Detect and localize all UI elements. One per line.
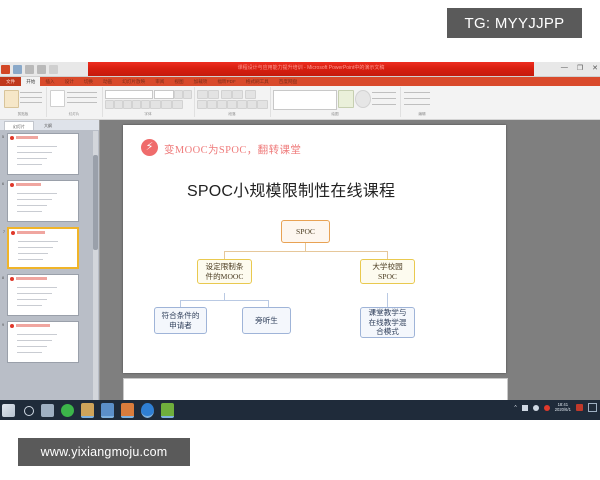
slide-thumbnail-number: 9 [2, 323, 4, 327]
connector-l3a-up [180, 300, 181, 307]
thumbnail-content-line [18, 247, 53, 248]
customize-icon[interactable] [49, 65, 58, 74]
ribbon-tab-0[interactable]: 文件 [0, 77, 21, 86]
slide-thumbnail-number: 5 [2, 135, 4, 139]
ribbon-group-clipboard: 剪贴板 [0, 87, 47, 117]
ribbon-tab-row: 文件开始插入设计切换动画幻灯片放映审阅视图加载项福昕PDF格式刷工具百度网盘 [0, 77, 600, 86]
app-explorer-icon[interactable] [101, 403, 114, 418]
text-direction-button[interactable] [247, 100, 257, 109]
save-icon[interactable] [13, 65, 22, 74]
paste-button[interactable] [4, 90, 19, 108]
windows-taskbar: ^ 18:41 2020/6/1 [0, 400, 600, 420]
connector-l2a-up [224, 251, 225, 259]
desktop-screenshot: 课程设计与应用能力提升培训 - Microsoft PowerPoint中的演示… [0, 62, 600, 420]
thumbnail-content-line [17, 352, 42, 353]
ribbon-tab-2[interactable]: 插入 [40, 77, 59, 86]
align-left-button[interactable] [197, 100, 207, 109]
watermark-badge: www.yixiangmoju.com [18, 438, 190, 466]
connector-l3b-up [268, 300, 269, 307]
work-area: 幻灯片 大纲 56789 ⚡ 变MOOC为SPOC，翻转课堂 SPOC小规模限制… [0, 120, 600, 408]
restore-button[interactable]: ❐ [577, 64, 583, 72]
diagram-node-l3a[interactable]: 符合条件的 申请者 [154, 307, 207, 334]
window-titlebar: 课程设计与应用能力提升培训 - Microsoft PowerPoint中的演示… [0, 62, 600, 77]
thumbnail-title-bar [16, 136, 38, 139]
ribbon-tab-12[interactable]: 百度网盘 [274, 77, 302, 86]
slide-pane-scrollbar[interactable] [93, 131, 98, 407]
slide-thumbnail[interactable]: 5 [7, 133, 79, 175]
slide-thumbnail[interactable]: 7 [7, 227, 79, 269]
volume-icon[interactable] [533, 405, 539, 411]
ribbon-tab-11[interactable]: 格式刷工具 [241, 77, 274, 86]
system-tray[interactable]: ^ 18:41 2020/6/1 [514, 403, 597, 412]
tg-badge: TG: MYYJJPP [447, 8, 582, 38]
character-spacing-button[interactable] [150, 100, 161, 109]
start-icon[interactable] [2, 404, 15, 417]
slide-title: SPOC小规模限制性在线课程 [187, 177, 395, 201]
node-label-line1: 大学校园 [372, 262, 402, 271]
arrange-button[interactable] [338, 90, 354, 108]
undo-icon[interactable] [25, 65, 34, 74]
connector-level2-bus [224, 251, 387, 252]
thumbnail-bolt-icon [10, 136, 14, 140]
slide-thumbnail[interactable]: 9 [7, 321, 79, 363]
app-powerpoint-icon[interactable] [121, 403, 134, 418]
thumbnail-content-line [17, 152, 52, 153]
slide-thumbnail-number: 8 [2, 276, 4, 280]
node-label-line1: 设定限制条 [206, 262, 244, 271]
font-color-button[interactable] [172, 100, 183, 109]
italic-button[interactable] [114, 100, 123, 109]
ribbon-group-slides: 幻灯片 [46, 87, 103, 117]
thumbnail-title-bar [16, 324, 50, 327]
shield-icon[interactable] [576, 404, 583, 411]
shadow-button[interactable] [132, 100, 141, 109]
diagram-node-l3c[interactable]: 课堂教学与 在线教学混 合模式 [360, 307, 415, 338]
slide-thumbnail-number: 7 [3, 230, 5, 234]
thumbnail-content-line [17, 211, 42, 212]
quick-access-toolbar[interactable] [1, 63, 58, 75]
align-center-button[interactable] [207, 100, 217, 109]
shapes-gallery[interactable] [273, 90, 337, 110]
quick-styles-button[interactable] [355, 90, 371, 108]
thumbnail-content-line [17, 199, 52, 200]
thumbnail-content-line [17, 205, 47, 206]
bullets-button[interactable] [197, 90, 208, 99]
ribbon-group-font: 字体 [102, 87, 195, 117]
app-green-icon[interactable] [61, 404, 74, 417]
node-label: SPOC [296, 227, 315, 236]
bold-button[interactable] [105, 100, 114, 109]
connector-l2a-down [224, 293, 225, 300]
underline-button[interactable] [123, 100, 132, 109]
thumbnail-bolt-icon [10, 183, 14, 187]
taskbar-clock[interactable]: 18:41 2020/6/1 [555, 403, 571, 412]
current-slide[interactable]: ⚡ 变MOOC为SPOC，翻转课堂 SPOC小规模限制性在线课程 [123, 125, 506, 373]
slide-stage: ⚡ 变MOOC为SPOC，翻转课堂 SPOC小规模限制性在线课程 [100, 120, 600, 408]
convert-smartart-button[interactable] [257, 100, 268, 109]
minimize-button[interactable]: — [561, 64, 568, 72]
increase-indent-button[interactable] [232, 90, 243, 99]
app-folder-icon[interactable] [81, 403, 94, 418]
thumbnail-bolt-icon [11, 231, 15, 235]
app-excel-icon[interactable] [161, 403, 174, 418]
redo-icon[interactable] [37, 65, 46, 74]
justify-button[interactable] [227, 100, 237, 109]
ribbon-body: 剪贴板 幻灯片 [0, 86, 600, 120]
diagram-node-l2a[interactable]: 设定限制条 件的MOOC [197, 259, 252, 284]
thumbnail-title-bar [16, 183, 41, 186]
thumbnail-content-line [18, 259, 43, 260]
window-title-fill: 课程设计与应用能力提升培训 - Microsoft PowerPoint中的演示… [88, 62, 534, 76]
thumbnail-bolt-icon [10, 277, 14, 281]
thumbnail-content-line [17, 293, 52, 294]
thumbnail-content-line [17, 146, 57, 147]
font-name-input[interactable] [105, 90, 153, 99]
window-title: 课程设计与应用能力提升培训 - Microsoft PowerPoint中的演示… [88, 64, 534, 71]
thumbnail-content-line [17, 305, 42, 306]
thumbnail-content-line [17, 158, 47, 159]
connector-l3-bus-left [180, 300, 268, 301]
thumbnail-content-line [17, 334, 57, 335]
columns-button[interactable] [237, 100, 247, 109]
ribbon-group-editing: 编辑 [400, 87, 444, 117]
ribbon-group-label: 编辑 [400, 112, 444, 117]
ribbon-group-label: 字体 [102, 112, 194, 117]
numbering-button[interactable] [208, 90, 219, 99]
thumbnail-content-line [17, 287, 57, 288]
thumbnail-content-line [18, 253, 48, 254]
new-slide-button[interactable] [50, 90, 65, 107]
ribbon-group-label: 剪贴板 [0, 112, 46, 117]
ribbon-group-drawing: 绘图 [270, 87, 401, 117]
slide-thumbnail-number: 6 [2, 182, 4, 186]
window-controls[interactable]: — ❐ ✕ [561, 64, 598, 72]
diagram-node-l2b[interactable]: 大学校园 SPOC [360, 259, 415, 284]
thumbnail-bolt-icon [10, 324, 14, 328]
node-label-line2: 件的MOOC [206, 272, 244, 281]
ribbon-tab-8[interactable]: 视图 [169, 77, 188, 86]
ribbon-group-label: 绘图 [270, 112, 400, 117]
taskbar-icons[interactable] [2, 403, 174, 418]
ribbon-tabs[interactable]: 文件开始插入设计切换动画幻灯片放映审阅视图加载项福昕PDF格式刷工具百度网盘 [0, 77, 302, 86]
search-icon[interactable] [24, 406, 34, 416]
node-label-line3: 合模式 [376, 327, 399, 336]
connector-root-down [305, 243, 306, 251]
node-label-line2: 申请者 [169, 321, 192, 330]
slide-thumbnail-list[interactable]: 56789 [0, 130, 99, 408]
ribbon-tab-3[interactable]: 设计 [60, 77, 79, 86]
bolt-icon: ⚡ [141, 139, 158, 156]
thumbnail-content-line [17, 340, 52, 341]
slide-thumbnail[interactable]: 8 [7, 274, 79, 316]
tab-outline[interactable]: 大纲 [36, 121, 60, 130]
network-icon[interactable] [522, 405, 528, 411]
ribbon-tab-5[interactable]: 动画 [98, 77, 117, 86]
thumbnail-content-line [18, 241, 58, 242]
thumbnail-content-line [17, 164, 42, 165]
node-label-line1: 符合条件的 [162, 311, 200, 320]
thumbnail-content-line [17, 346, 47, 347]
tray-expand-icon[interactable]: ^ [514, 405, 516, 411]
decrease-indent-button[interactable] [221, 90, 232, 99]
ribbon-group-label: 段落 [194, 112, 270, 117]
screenshot-root: 课程设计与应用能力提升培训 - Microsoft PowerPoint中的演示… [0, 0, 600, 480]
thumbnail-content-line [17, 299, 47, 300]
change-case-button[interactable] [161, 100, 172, 109]
slide-eyebrow: 变MOOC为SPOC，翻转课堂 [164, 142, 301, 157]
task-view-icon[interactable] [41, 404, 54, 417]
connector-l2b-up [387, 251, 388, 259]
ribbon-tab-7[interactable]: 审阅 [150, 77, 169, 86]
file-icon[interactable] [1, 65, 10, 74]
align-right-button[interactable] [217, 100, 227, 109]
ribbon-group-label: 幻灯片 [46, 112, 102, 117]
shrink-font-button[interactable] [183, 90, 192, 99]
ribbon-tab-4[interactable]: 切换 [79, 77, 98, 86]
connector-l3c-up [387, 293, 388, 307]
line-spacing-button[interactable] [245, 90, 256, 99]
slide-thumbnail[interactable]: 6 [7, 180, 79, 222]
slide-pane: 幻灯片 大纲 56789 [0, 120, 100, 408]
action-center-icon[interactable] [588, 403, 597, 412]
node-label-line2: SPOC [378, 272, 397, 281]
font-size-input[interactable] [154, 90, 174, 99]
close-button[interactable]: ✕ [592, 64, 598, 72]
notes-pane[interactable] [123, 378, 508, 402]
ribbon-tab-9[interactable]: 加载项 [189, 77, 213, 86]
ribbon-tab-1[interactable]: 开始 [21, 77, 40, 86]
ribbon-tab-10[interactable]: 福昕PDF [212, 77, 240, 86]
thumbnail-content-line [17, 193, 57, 194]
grow-font-button[interactable] [174, 90, 183, 99]
diagram-node-root[interactable]: SPOC [281, 220, 330, 243]
diagram-node-l3b[interactable]: 旁听生 [242, 307, 291, 334]
node-label-line1: 课堂教学与 [369, 308, 407, 317]
node-label: 旁听生 [255, 316, 278, 325]
ime-icon[interactable] [544, 405, 550, 411]
strikethrough-button[interactable] [141, 100, 150, 109]
node-label-line2: 在线教学混 [369, 318, 407, 327]
app-browser-icon[interactable] [141, 403, 154, 418]
ribbon-group-paragraph: 段落 [194, 87, 271, 117]
thumbnail-title-bar [16, 277, 47, 280]
clock-date: 2020/6/1 [555, 408, 571, 412]
thumbnail-title-bar [17, 231, 45, 234]
ribbon-tab-6[interactable]: 幻灯片放映 [117, 77, 150, 86]
